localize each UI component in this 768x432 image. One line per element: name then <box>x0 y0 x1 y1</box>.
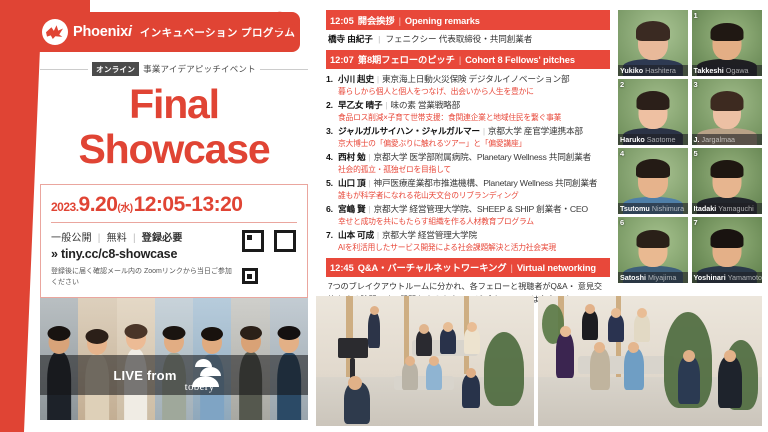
pitch-name: 山口 頂 <box>338 176 365 189</box>
speaker-family-name: Hashitera <box>645 66 676 75</box>
opening-speaker: 橋寺 由紀子 | フェニクシー 代表取締役・共同創業者 <box>328 33 610 45</box>
pitch-theme: 暮らしから個人と個人をつなげ、出会いから人生を豊かに <box>338 86 610 97</box>
speaker-cell[interactable]: 4 Tsutomu Nishimura <box>618 148 688 214</box>
opening-speaker-affiliation: フェニクシー 代表取締役・共同創業者 <box>386 34 533 44</box>
venue-photo-group <box>538 296 762 426</box>
speaker-namebar: Yoshinari Yamamoto <box>692 272 762 283</box>
speaker-cell[interactable]: 5 Itadaki Yamaguchi <box>692 148 762 214</box>
pitch-name: 山本 可成 <box>338 228 374 241</box>
agenda-section-header-pitches: 12:07 第8期フェローのピッチ | Cohort 8 Fellows' pi… <box>326 50 610 70</box>
section-time: 12:07 <box>330 55 354 65</box>
cohort-badge: 8 期 <box>272 8 300 36</box>
speaker-given-name: Haruko <box>620 135 645 144</box>
section-title-ja: Q&A・バーチャルネットワーキング <box>358 260 507 274</box>
pitch-number: 6. <box>326 204 338 214</box>
kicker-subtitle: 事業アイデアピッチイベント <box>143 63 256 75</box>
speaker-given-name: Tsutomu <box>620 204 650 213</box>
phoenix-bird-icon <box>42 19 68 45</box>
poster-canvas: Phoenixi インキュベーション プログラム 8 期 オンライン 事業アイデ… <box>0 0 768 432</box>
speaker-index: 6 <box>620 218 624 227</box>
pitch-number: 2. <box>326 100 338 110</box>
speaker-cell[interactable]: Yukiko Hashitera <box>618 10 688 76</box>
event-info-box: 2023. 9.20 (水) 12:05-13:20 一般公開 | 無料 | 登… <box>40 184 308 298</box>
pitch-org: 京都大学 産官学連携本部 <box>488 124 583 137</box>
agenda-section-header-opening: 12:05 開会挨拶 | Opening remarks <box>326 10 610 30</box>
speaker-family-name: Ogawa <box>726 66 749 75</box>
event-weekday: (水) <box>117 199 132 214</box>
pitch-item: 4. 西村 勉 | 京都大学 医学部附属病院、Planetary Wellnes… <box>326 150 610 175</box>
event-date: 9.20 <box>79 193 118 217</box>
speaker-photo-grid: Yukiko Hashitera 1 Takkeshi Ogawa 2 Haru… <box>618 10 762 283</box>
speaker-namebar: J. Jargalmaa <box>692 134 762 145</box>
tobery-logo: tobery <box>183 358 235 392</box>
section-sep: | <box>459 55 461 65</box>
pitch-item: 7. 山本 可成 | 京都大学 経営管理大学院 AIを利活用したサービス開発によ… <box>326 228 610 253</box>
kicker-rule-right <box>260 69 308 70</box>
info-divider <box>51 222 297 223</box>
pitch-number: 1. <box>326 74 338 84</box>
speaker-index: 5 <box>694 149 698 158</box>
brand-header-banner: Phoenixi インキュベーション プログラム <box>18 12 300 52</box>
speaker-namebar: Takkeshi Ogawa <box>692 65 762 76</box>
online-tag: オンライン <box>92 62 139 76</box>
qr-code[interactable] <box>241 229 297 285</box>
pitch-item: 1. 小川 赳史 | 東京海上日動火災保険 デジタルイノベーション部 暮らしから… <box>326 72 610 97</box>
event-year: 2023. <box>51 200 79 214</box>
pitch-name: ジャルガルサイハン・ジャルガルマー <box>338 124 480 137</box>
opening-speaker-name: 橋寺 由紀子 <box>328 34 373 44</box>
speaker-family-name: Yamamoto <box>728 273 762 282</box>
pitch-theme: 社会的孤立・孤独ゼロを目指して <box>338 164 610 175</box>
pitch-org: 神戸医療産業都市推進機構、Planetary Wellness 共同創業者 <box>374 176 598 189</box>
speaker-cell[interactable]: 7 Yoshinari Yamamoto <box>692 217 762 283</box>
event-datetime: 2023. 9.20 (水) 12:05-13:20 <box>51 193 297 217</box>
brand-logo-text: Phoenixi <box>73 24 132 40</box>
speaker-cell[interactable]: 3 J. Jargalmaa <box>692 79 762 145</box>
access-divider-1: | <box>98 233 101 244</box>
speaker-given-name: Itadaki <box>694 204 717 213</box>
speaker-given-name: J. <box>694 135 700 144</box>
pitch-item: 5. 山口 頂 | 神戸医療産業都市推進機構、Planetary Wellnes… <box>326 176 610 201</box>
access-divider-2: | <box>133 233 136 244</box>
pitch-theme: 誰もが科学者になれる花山天文台のリブランディング <box>338 190 610 201</box>
speaker-given-name: Satoshi <box>620 273 646 282</box>
registration-note: 登録後に届く確認メール内の Zoomリンクから当日ご参加ください <box>51 267 233 288</box>
live-from-overlay: LIVE from tobery <box>40 355 308 395</box>
section-time: 12:05 <box>330 16 354 26</box>
pitch-name: 宮嶋 賢 <box>338 202 365 215</box>
section-title-ja: 開会挨拶 <box>358 13 395 27</box>
pitch-name: 早乙女 晴子 <box>338 98 382 111</box>
access-register-label: 登録必要 <box>142 233 183 244</box>
pitch-theme: 幸せと成功を共にもたらす組織を作る人材教育プログラム <box>338 216 610 227</box>
opening-sep: | <box>378 34 380 44</box>
event-kicker: オンライン 事業アイデアピッチイベント <box>40 62 308 76</box>
section-title-ja: 第8期フェローのピッチ <box>358 52 455 66</box>
pitch-number: 3. <box>326 126 338 136</box>
access-info: 一般公開 | 無料 | 登録必要 <box>51 229 233 244</box>
agenda-section-header-networking: 12:45 Q&A・バーチャルネットワーキング | Virtual networ… <box>326 258 610 278</box>
section-title-en: Cohort 8 Fellows' pitches <box>465 55 575 65</box>
speaker-family-name: Miyajima <box>648 273 676 282</box>
pitch-org: 京都大学 経営管理大学院、SHEEP & SHIP 創業者・CEO <box>374 202 588 215</box>
cohort-number: 8 <box>272 8 288 36</box>
section-title-en: Virtual networking <box>517 263 596 273</box>
pitch-theme: 食品ロス削減×子育て世帯支援：食関連企業と地域住民を繋ぐ事業 <box>338 112 610 123</box>
hero-column: オンライン 事業アイデアピッチイベント Final Showcase 2023.… <box>40 62 308 298</box>
pitch-item: 3. ジャルガルサイハン・ジャルガルマー | 京都大学 産官学連携本部 京大博士… <box>326 124 610 149</box>
speaker-index: 1 <box>694 11 698 20</box>
page-title: Final Showcase <box>40 82 308 172</box>
speaker-family-name: Yamaguchi <box>718 204 753 213</box>
speaker-family-name: Saotome <box>647 135 676 144</box>
speaker-given-name: Takkeshi <box>694 66 724 75</box>
speaker-namebar: Satoshi Miyajima <box>618 272 688 283</box>
pitch-org: 京都大学 経営管理大学院 <box>382 228 477 241</box>
speaker-cell[interactable]: 6 Satoshi Miyajima <box>618 217 688 283</box>
pitch-item: 6. 宮嶋 賢 | 京都大学 経営管理大学院、SHEEP & SHIP 創業者・… <box>326 202 610 227</box>
speaker-namebar: Tsutomu Nishimura <box>618 203 688 214</box>
cohort-unit: 期 <box>289 23 300 34</box>
pitch-org: 京都大学 医学部附属病院、Planetary Wellness 共同創業者 <box>374 150 591 163</box>
pitch-name: 小川 赳史 <box>338 72 374 85</box>
kicker-rule-left <box>40 69 88 70</box>
speaker-namebar: Yukiko Hashitera <box>618 65 688 76</box>
speaker-given-name: Yoshinari <box>694 273 726 282</box>
speaker-index: 3 <box>694 80 698 89</box>
speaker-family-name: Nishimura <box>652 204 684 213</box>
access-free-label: 無料 <box>107 233 127 244</box>
access-public-label: 一般公開 <box>51 233 92 244</box>
tobery-wordmark: tobery <box>185 381 215 393</box>
pitch-name: 西村 勉 <box>338 150 365 163</box>
section-time: 12:45 <box>330 263 354 273</box>
speaker-index: 4 <box>620 149 624 158</box>
event-time: 12:05-13:20 <box>134 193 243 217</box>
speaker-index: 2 <box>620 80 624 89</box>
section-title-en: Opening remarks <box>405 16 480 26</box>
agenda-panel: 12:05 開会挨拶 | Opening remarks 橋寺 由紀子 | フェ… <box>326 10 610 306</box>
registration-url[interactable]: » tiny.cc/c8-showcase <box>51 247 233 261</box>
speaker-cell[interactable]: 1 Takkeshi Ogawa <box>692 10 762 76</box>
pitch-item: 2. 早乙女 晴子 | 味の素 営業戦略部 食品ロス削減×子育て世帯支援：食関連… <box>326 98 610 123</box>
pitch-theme: 京大博士の「偏愛ぶりに触れるツアー」と「偏愛講座」 <box>338 138 610 149</box>
pitch-number: 4. <box>326 152 338 162</box>
speaker-given-name: Yukiko <box>620 66 643 75</box>
pitch-number: 7. <box>326 230 338 240</box>
speaker-cell[interactable]: 2 Haruko Saotome <box>618 79 688 145</box>
speaker-namebar: Itadaki Yamaguchi <box>692 203 762 214</box>
pitch-org: 味の素 営業戦略部 <box>390 98 460 111</box>
pitch-org: 東京海上日動火災保険 デジタルイノベーション部 <box>382 72 569 85</box>
pitch-number: 5. <box>326 178 338 188</box>
speaker-namebar: Haruko Saotome <box>618 134 688 145</box>
speaker-family-name: Jargalmaa <box>702 135 736 144</box>
venue-photo-studio <box>316 296 534 426</box>
section-sep: | <box>511 263 513 273</box>
pitch-theme: AIを利活用したサービス開発による社会課題解決と活力社会実現 <box>338 242 610 253</box>
live-label: LIVE from <box>113 368 176 383</box>
section-sep: | <box>399 16 401 26</box>
speaker-index: 7 <box>694 218 698 227</box>
